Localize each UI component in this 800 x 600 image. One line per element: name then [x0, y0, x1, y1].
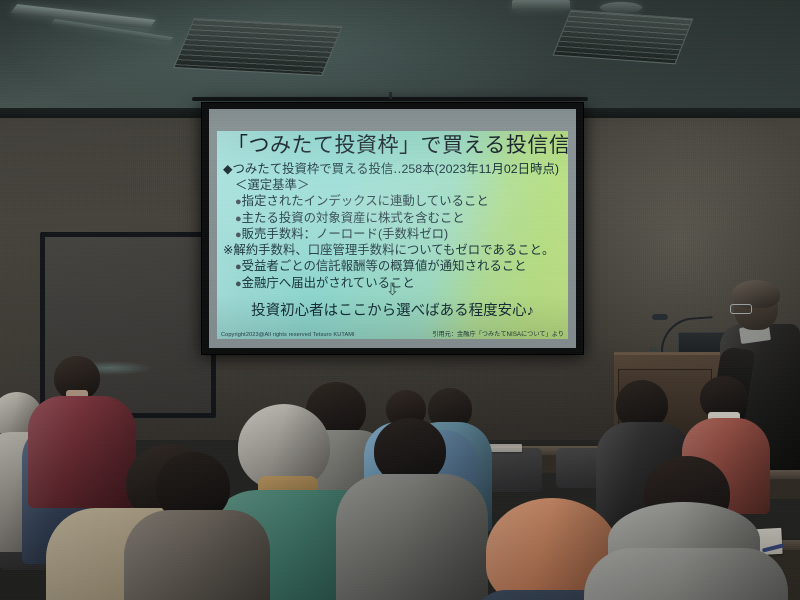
slide-line-6: ●受益者ごとの信託報酬等の概算値が通知されること	[223, 258, 568, 274]
slide-bullet-list: ◆つみたて投資枠で買える投信‥258本(2023年11月02日時点) ＜選定基準…	[223, 161, 568, 291]
vent-slats	[175, 19, 342, 75]
presentation-slide: 「つみたて投資枠」で買える投信信託 ◆つみたて投資枠で買える投信‥258本(20…	[217, 131, 568, 339]
copyright-notice: Copyright2023@All rights reserved Tetsur…	[221, 332, 355, 338]
slide-line-text: 販売手数料：ノーロード(手数料ゼロ)	[242, 227, 449, 241]
screen-hanging-bar	[192, 97, 588, 101]
slide-line-text: 受益者ごとの信託報酬等の概算値が通知されること	[242, 259, 527, 273]
vent-slats	[554, 11, 692, 64]
person-top	[336, 474, 488, 600]
round-bullet-icon: ●	[235, 196, 242, 208]
slide-line-0: ◆つみたて投資枠で買える投信‥258本(2023年11月02日時点)	[223, 161, 568, 177]
slide-closing-message: 投資初心者はここから選べばある程度安心♪	[217, 299, 568, 320]
slide-line-5: ※解約手数料、口座管理手数料についてもゼロであること。	[223, 242, 568, 258]
slide-line-text: つみたて投資枠で買える投信‥258本(2023年11月02日時点)	[233, 162, 559, 176]
down-arrow-icon: ⇩	[217, 281, 568, 298]
slide-line-3: ●主たる投資の対象資産に株式を含むこと	[223, 210, 568, 226]
round-bullet-icon: ●	[235, 213, 242, 225]
eyeglasses-icon	[730, 304, 752, 314]
ceiling-light-panel	[512, 0, 570, 10]
ceiling-air-vent-left	[173, 18, 343, 76]
slide-line-2: ●指定されたインデックスに連動していること	[223, 193, 568, 209]
screen-surface: 「つみたて投資枠」で買える投信信託 ◆つみたて投資枠で買える投信‥258本(20…	[209, 109, 576, 348]
slide-footer: Copyright2023@All rights reserved Tetsur…	[217, 328, 568, 338]
round-bullet-icon: ●	[235, 229, 242, 241]
person-top	[124, 510, 270, 600]
gooseneck-lamp-head	[652, 314, 668, 320]
slide-line-4: ●販売手数料：ノーロード(手数料ゼロ)	[223, 226, 568, 242]
source-citation: 引用元：金融庁「つみたてNISAについて」より	[432, 329, 564, 338]
slide-line-text: 主たる投資の対象資産に株式を含むこと	[242, 211, 465, 225]
paper-small	[488, 444, 522, 452]
person-top	[28, 396, 136, 508]
slide-line-text: ＜選定基準＞	[235, 178, 309, 192]
round-bullet-icon: ●	[235, 261, 242, 273]
ceiling-air-vent-right	[553, 10, 694, 65]
ceiling-light-dome	[600, 2, 642, 13]
person-top	[584, 548, 788, 600]
slide-line-1: ＜選定基準＞	[223, 177, 568, 193]
slide-line-text: 指定されたインデックスに連動していること	[242, 194, 489, 208]
shading	[584, 548, 788, 600]
slide-line-text: ※解約手数料、口座管理手数料についてもゼロであること。	[223, 243, 554, 257]
shading	[124, 510, 270, 600]
slide-title: 「つみたて投資枠」で買える投信信託	[227, 135, 562, 157]
seminar-room-scene: 「つみたて投資枠」で買える投信信託 ◆つみたて投資枠で買える投信‥258本(20…	[0, 0, 800, 600]
shading	[28, 396, 136, 508]
shading	[336, 474, 488, 600]
projection-screen[interactable]: 「つみたて投資枠」で買える投信信託 ◆つみたて投資枠で買える投信‥258本(20…	[201, 102, 584, 355]
diamond-bullet-icon: ◆	[223, 162, 233, 176]
